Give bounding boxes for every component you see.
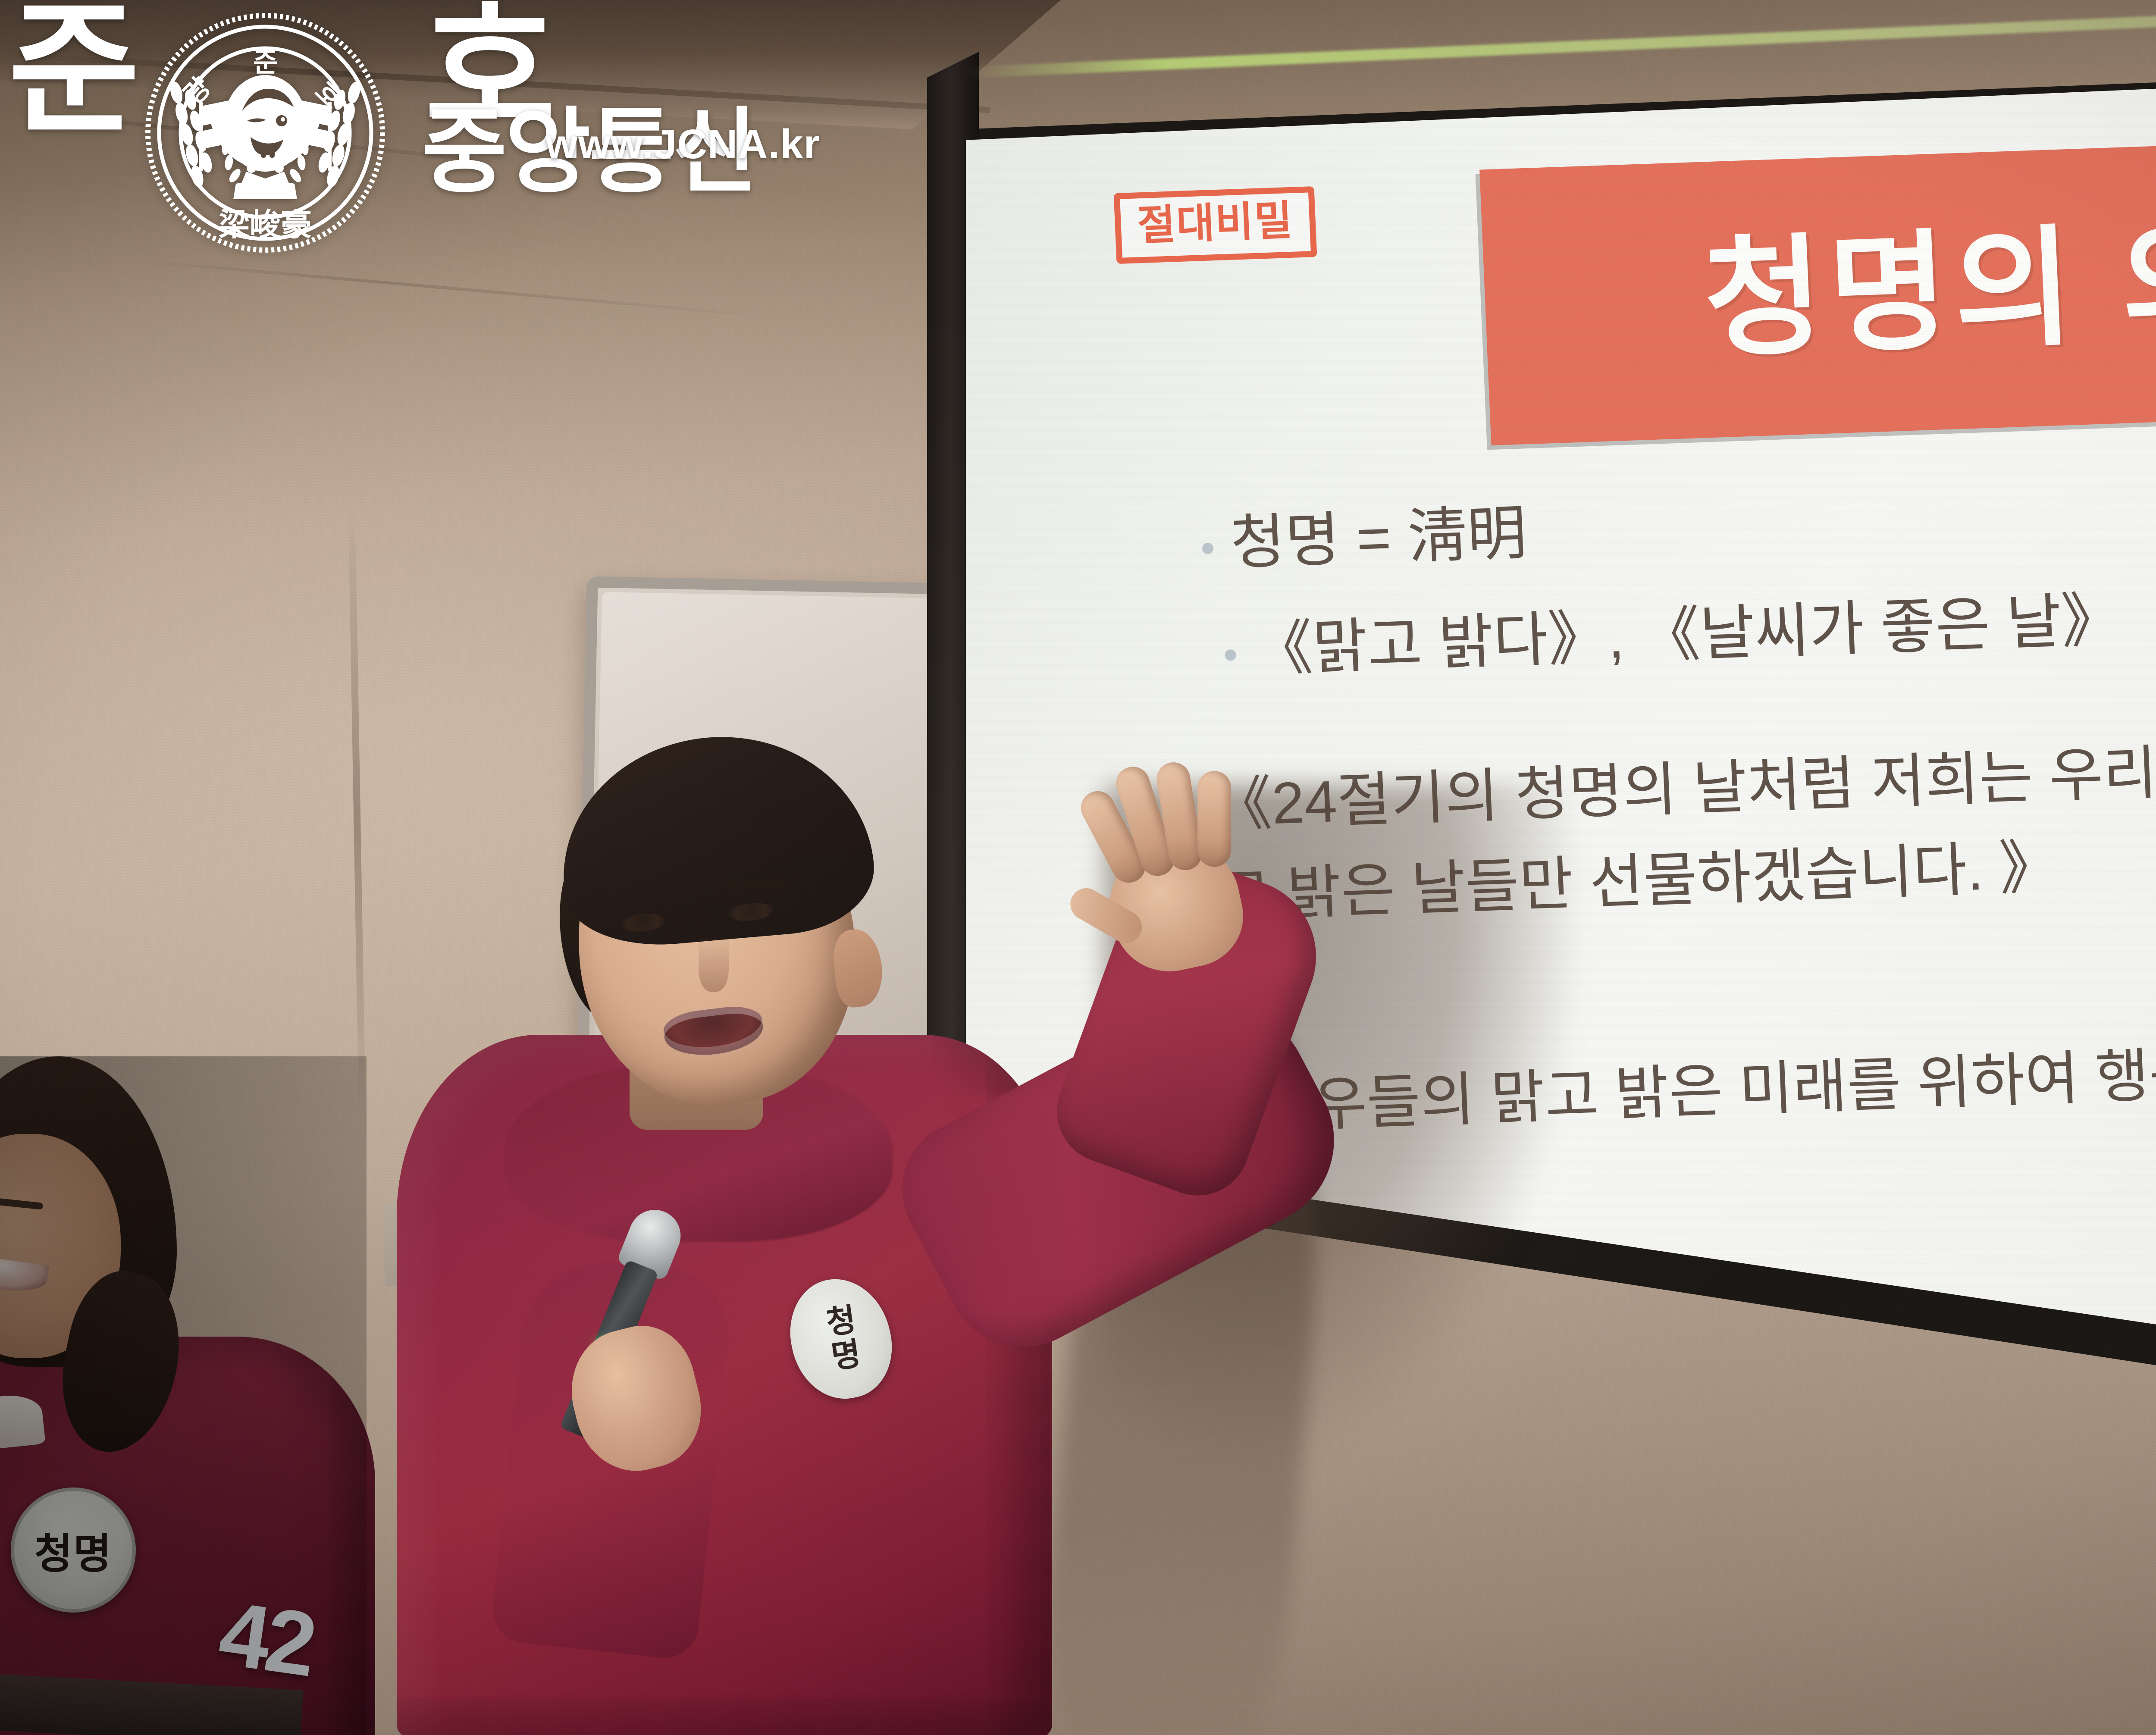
presenter-open-hand	[1059, 755, 1282, 987]
presenter-raised-arm	[875, 806, 1307, 1410]
presenter-hair	[552, 724, 879, 953]
svg-text:준: 준	[253, 48, 278, 78]
presenter-mic-arm	[509, 1186, 785, 1660]
svg-text:梁峻豪: 梁峻豪	[219, 206, 312, 243]
bullet-dot-icon	[1202, 543, 1214, 554]
secret-stamp-badge: 절대비밀	[1114, 186, 1317, 264]
bystander-sleeve-number: 42	[213, 1581, 319, 1697]
watermark-overlay: 준 량 준 호	[0, 0, 862, 276]
bystander-chest-patch-label: 청명	[34, 1520, 113, 1580]
list-item: 《맑고 밝다》, 《날씨가 좋은 날》	[1205, 563, 2156, 687]
presenter-finger	[1197, 771, 1231, 867]
slide-title-band: 청명의 의미?	[1479, 130, 2156, 445]
bystander-student: 청명 42	[0, 1056, 367, 1735]
bystander-chest-patch: 청명	[11, 1488, 136, 1613]
photo-scene: 절대비밀 청명의 의미? 청명 = 淸明 《맑고 밝다》, 《날씨가 좋은 날》…	[0, 0, 2156, 1735]
list-item: 청명 = 淸明	[1200, 455, 2156, 579]
watermark-url: www.JCNA.kr	[545, 121, 820, 168]
presenter-nose	[699, 936, 729, 992]
bullet-dot-icon	[1225, 649, 1236, 661]
watermark-char-left: 준	[9, 9, 140, 131]
portrait-seal-emblem-icon: 량 준 호	[144, 8, 386, 258]
slide-title: 청명의 의미?	[1702, 209, 2156, 365]
secret-stamp-label: 절대비밀	[1137, 200, 1294, 247]
presenter-speaker	[319, 733, 1440, 1735]
bullet-text: 청명 = 淸明	[1229, 498, 1528, 579]
presenter-chest-patch-label: 청명	[813, 1301, 868, 1376]
bullet-text: 《맑고 밝다》, 《날씨가 좋은 날》	[1252, 585, 2122, 685]
